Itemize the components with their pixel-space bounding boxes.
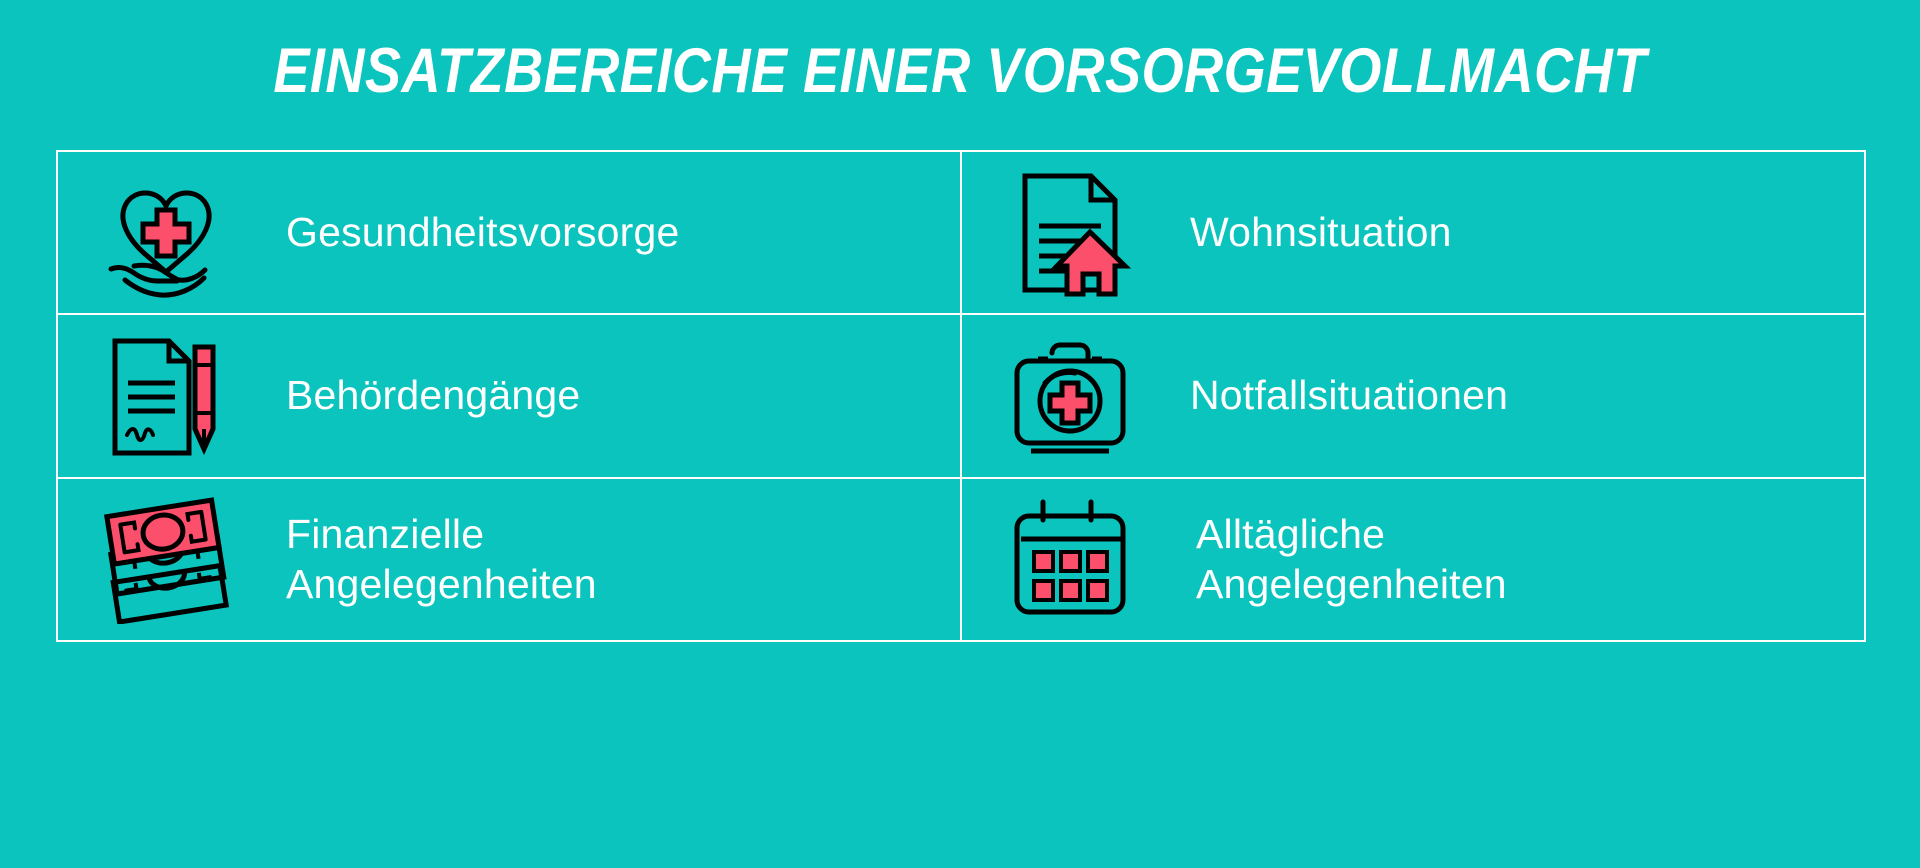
cell-label: Finanzielle Angelegenheiten [286, 509, 597, 609]
cell-label: Behördengänge [286, 372, 580, 420]
cell-label: Alltägliche Angelegenheiten [1196, 509, 1507, 609]
calendar-icon [1004, 493, 1136, 625]
grid-cell-finanzielle-angelegenheiten[interactable]: Finanzielle Angelegenheiten [58, 479, 962, 642]
heart-in-hand-icon [100, 167, 232, 299]
cell-label: Gesundheitsvorsorge [286, 209, 680, 257]
grid-cell-wohnsituation[interactable]: Wohnsituation [962, 152, 1866, 315]
grid-cell-gesundheitsvorsorge[interactable]: Gesundheitsvorsorge [58, 152, 962, 315]
document-pen-icon [100, 330, 232, 462]
cell-label: Notfallsituationen [1190, 372, 1508, 420]
category-grid: Gesundheitsvorsorge Wohnsituation [56, 150, 1866, 642]
document-house-icon [1004, 167, 1136, 299]
first-aid-kit-icon [1004, 330, 1136, 462]
grid-cell-behoerdengaenge[interactable]: Behördengänge [58, 315, 962, 478]
page-title: EINSATZBEREICHE EINER VORSORGEVOLLMACHT [134, 38, 1785, 104]
banknotes-icon [100, 493, 232, 625]
cell-label: Wohnsituation [1190, 209, 1452, 257]
grid-cell-notfallsituationen[interactable]: Notfallsituationen [962, 315, 1866, 478]
infographic-page: EINSATZBEREICHE EINER VORSORGEVOLLMACHT … [0, 0, 1920, 868]
grid-cell-alltaegliche-angelegenheiten[interactable]: Alltägliche Angelegenheiten [962, 479, 1866, 642]
